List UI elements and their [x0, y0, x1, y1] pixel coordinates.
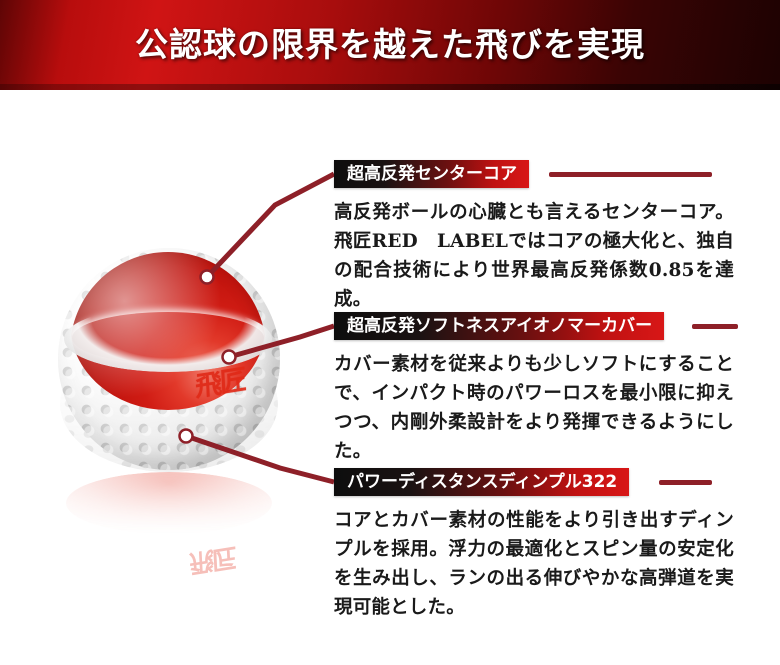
label-tail-dimple: [659, 480, 712, 485]
callout-dimple: パワーディスタンスディンプル322 コアとカバー素材の性能をより引き出すディンプ…: [334, 468, 746, 622]
label-tail-center-core: [549, 172, 712, 177]
callout-body-center-core: 高反発ボールの心臓とも言えるセンターコア。飛匠RED LABELではコアの極大化…: [334, 198, 734, 314]
golf-ball-illustration: 飛匠 飛匠: [58, 248, 308, 618]
label-tail-ionomer-cover: [692, 324, 738, 329]
callout-label-row: 超高反発センターコア: [334, 160, 746, 188]
callout-label-dimple: パワーディスタンスディンプル322: [334, 468, 629, 496]
page-title: 公認球の限界を越えた飛びを実現: [0, 0, 780, 84]
callout-center-core: 超高反発センターコア 高反発ボールの心臓とも言えるセンターコア。飛匠RED LA…: [334, 160, 746, 314]
callout-label-ionomer-cover: 超高反発ソフトネスアイオノマーカバー: [334, 312, 664, 340]
callout-ionomer-cover: 超高反発ソフトネスアイオノマーカバー カバー素材を従来よりも少しソフトにすること…: [334, 312, 746, 466]
cutaway-golf-ball: 飛匠: [58, 248, 280, 470]
header-banner: 公認球の限界を越えた飛びを実現: [0, 0, 780, 90]
callout-label-row: パワーディスタンスディンプル322: [334, 468, 746, 496]
callout-body-dimple: コアとカバー素材の性能をより引き出すディンプルを採用。浮力の最適化とスピン量の安…: [334, 506, 734, 622]
reflection-brand-logo: 飛匠: [187, 501, 246, 580]
callout-body-ionomer-cover: カバー素材を従来よりも少しソフトにすることで、インパクト時のパワーロスを最小限に…: [334, 350, 734, 466]
ball-brand-logo: 飛匠: [194, 361, 253, 446]
callout-label-center-core: 超高反発センターコア: [334, 160, 529, 188]
callout-label-row: 超高反発ソフトネスアイオノマーカバー: [334, 312, 746, 340]
